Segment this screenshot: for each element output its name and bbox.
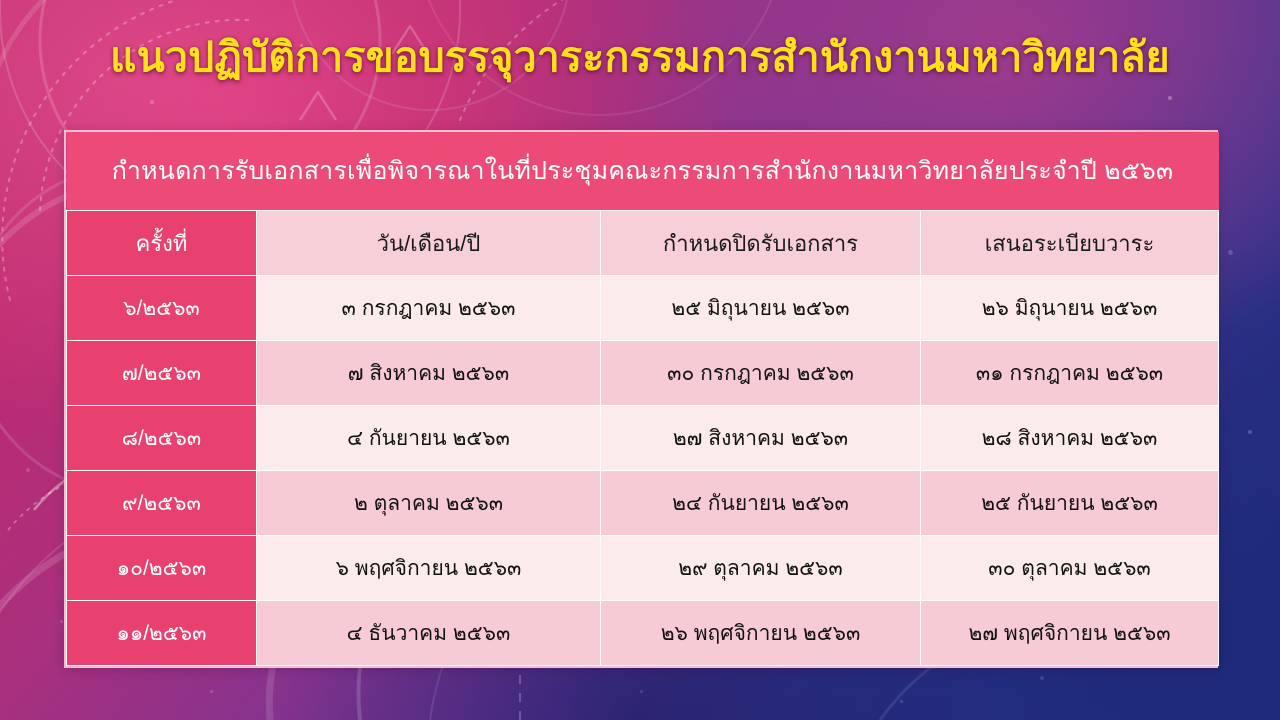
cell-date: ๗ สิงหาคม ๒๕๖๓ [257, 341, 601, 406]
table-banner-title: กำหนดการรับเอกสารเพื่อพิจารณาในที่ประชุม… [67, 132, 1219, 211]
table-header-row: ครั้งที่ วัน/เดือน/ปี กำหนดปิดรับเอกสาร … [67, 211, 1219, 276]
cell-occurrence: ๖/๒๕๖๓ [67, 276, 257, 341]
cell-agenda: ๓๑ กรกฎาคม ๒๕๖๓ [921, 341, 1219, 406]
cell-date: ๔ กันยายน ๒๕๖๓ [257, 406, 601, 471]
slide-title: แนวปฏิบัติการขอบรรจุวาระกรรมการสำนักงานม… [0, 34, 1280, 81]
cell-deadline: ๒๗ สิงหาคม ๒๕๖๓ [601, 406, 921, 471]
cell-agenda: ๒๕ กันยายน ๒๕๖๓ [921, 471, 1219, 536]
table-row: ๘/๒๕๖๓ ๔ กันยายน ๒๕๖๓ ๒๗ สิงหาคม ๒๕๖๓ ๒๘… [67, 406, 1219, 471]
schedule-table-container: กำหนดการรับเอกสารเพื่อพิจารณาในที่ประชุม… [64, 130, 1218, 668]
presentation-slide: 0 9 แนวปฏิบัติก [0, 0, 1280, 720]
table-banner-row: กำหนดการรับเอกสารเพื่อพิจารณาในที่ประชุม… [67, 132, 1219, 211]
cell-occurrence: ๘/๒๕๖๓ [67, 406, 257, 471]
cell-agenda: ๒๘ สิงหาคม ๒๕๖๓ [921, 406, 1219, 471]
schedule-table: กำหนดการรับเอกสารเพื่อพิจารณาในที่ประชุม… [66, 132, 1219, 666]
cell-deadline: ๒๖ พฤศจิกายน ๒๕๖๓ [601, 601, 921, 666]
cell-agenda: ๒๗ พฤศจิกายน ๒๕๖๓ [921, 601, 1219, 666]
table-row: ๑๑/๒๕๖๓ ๔ ธันวาคม ๒๕๖๓ ๒๖ พฤศจิกายน ๒๕๖๓… [67, 601, 1219, 666]
cell-date: ๓ กรกฎาคม ๒๕๖๓ [257, 276, 601, 341]
cell-deadline: ๓๐ กรกฎาคม ๒๕๖๓ [601, 341, 921, 406]
cell-occurrence: ๙/๒๕๖๓ [67, 471, 257, 536]
cell-date: ๖ พฤศจิกายน ๒๕๖๓ [257, 536, 601, 601]
column-header-deadline: กำหนดปิดรับเอกสาร [601, 211, 921, 276]
cell-occurrence: ๑๐/๒๕๖๓ [67, 536, 257, 601]
column-header-occurrence: ครั้งที่ [67, 211, 257, 276]
column-header-date: วัน/เดือน/ปี [257, 211, 601, 276]
column-header-agenda: เสนอระเบียบวาระ [921, 211, 1219, 276]
cell-occurrence: ๗/๒๕๖๓ [67, 341, 257, 406]
cell-date: ๒ ตุลาคม ๒๕๖๓ [257, 471, 601, 536]
cell-date: ๔ ธันวาคม ๒๕๖๓ [257, 601, 601, 666]
table-row: ๖/๒๕๖๓ ๓ กรกฎาคม ๒๕๖๓ ๒๕ มิถุนายน ๒๕๖๓ ๒… [67, 276, 1219, 341]
cell-deadline: ๒๙ ตุลาคม ๒๕๖๓ [601, 536, 921, 601]
cell-agenda: ๒๖ มิถุนายน ๒๕๖๓ [921, 276, 1219, 341]
table-row: ๗/๒๕๖๓ ๗ สิงหาคม ๒๕๖๓ ๓๐ กรกฎาคม ๒๕๖๓ ๓๑… [67, 341, 1219, 406]
cell-deadline: ๒๕ มิถุนายน ๒๕๖๓ [601, 276, 921, 341]
cell-occurrence: ๑๑/๒๕๖๓ [67, 601, 257, 666]
table-row: ๙/๒๕๖๓ ๒ ตุลาคม ๒๕๖๓ ๒๔ กันยายน ๒๕๖๓ ๒๕ … [67, 471, 1219, 536]
table-row: ๑๐/๒๕๖๓ ๖ พฤศจิกายน ๒๕๖๓ ๒๙ ตุลาคม ๒๕๖๓ … [67, 536, 1219, 601]
cell-deadline: ๒๔ กันยายน ๒๕๖๓ [601, 471, 921, 536]
cell-agenda: ๓๐ ตุลาคม ๒๕๖๓ [921, 536, 1219, 601]
